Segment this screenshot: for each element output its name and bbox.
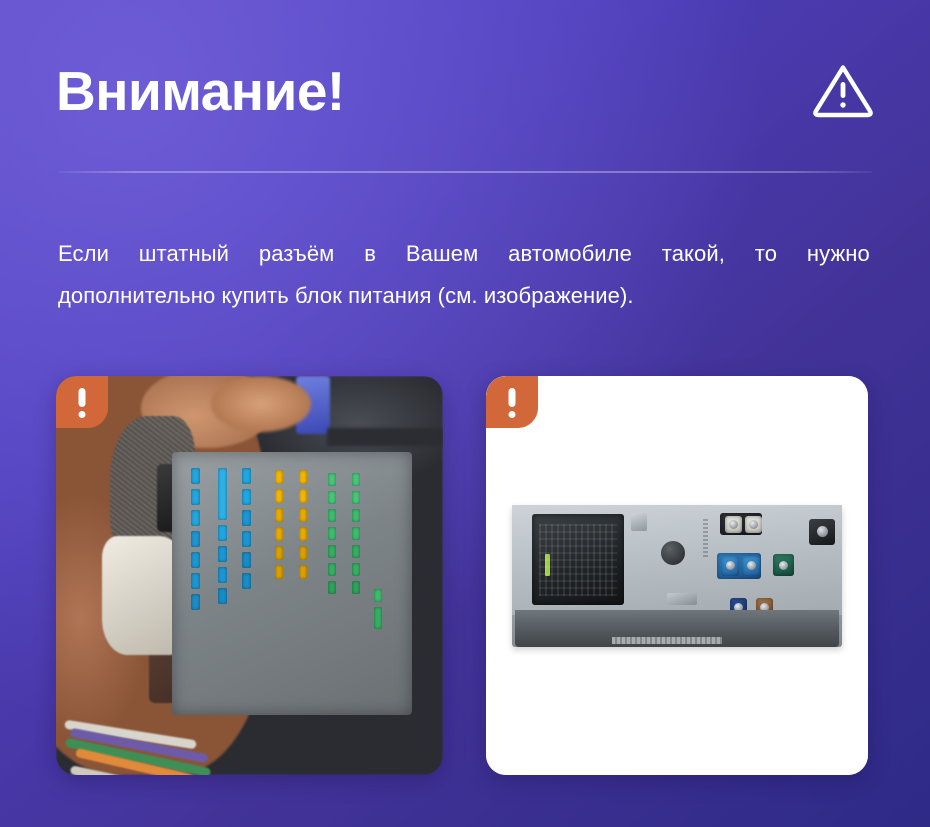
screw-terminal-block <box>809 519 835 545</box>
pin-column-green <box>328 473 336 594</box>
pin-column-yellow <box>275 470 283 579</box>
body-text: Если штатный разъём в Вашем автомобиле т… <box>58 233 870 317</box>
warning-slide: Внимание! Если штатный разъём в Вашем ав… <box>0 0 930 827</box>
fakra-connector-white <box>725 516 742 533</box>
word: разъём <box>259 233 335 275</box>
header-divider <box>58 171 872 173</box>
word: Вашем <box>406 233 478 275</box>
quadlock-connector <box>172 452 412 715</box>
word: то <box>755 233 777 275</box>
exclamation-dot <box>79 411 86 418</box>
fakra-connector-green <box>773 554 794 576</box>
power-supply-module <box>512 505 842 647</box>
fakra-connector-white <box>745 516 762 533</box>
module-label <box>612 637 722 644</box>
pin-column-blue <box>218 468 227 604</box>
pin-column-green <box>374 589 382 629</box>
module-front-lip <box>515 610 838 647</box>
round-knob <box>661 541 685 565</box>
card-power-supply-photo[interactable] <box>486 376 868 775</box>
background-dark-bar <box>327 428 443 446</box>
word: Если <box>58 233 109 275</box>
header: Внимание! <box>56 48 874 134</box>
finger <box>211 376 312 432</box>
word: автомобиле <box>508 233 632 275</box>
fakra-connector-blue <box>721 556 739 576</box>
power-supply-photo <box>486 376 868 775</box>
wire-bundle <box>64 679 319 775</box>
page-title: Внимание! <box>56 64 345 119</box>
exclamation-icon <box>486 376 538 428</box>
word: в <box>364 233 376 275</box>
black-harness-connector <box>532 514 624 605</box>
exclamation-icon <box>56 376 108 428</box>
fakra-connector-blue <box>742 556 760 576</box>
card-connector-photo[interactable] <box>56 376 443 775</box>
connector-photo <box>56 376 443 775</box>
image-cards <box>56 376 868 775</box>
pin-column-blue <box>191 468 200 610</box>
exclamation-dot <box>509 411 516 418</box>
exclamation-stem <box>509 388 516 407</box>
word: нужно <box>807 233 870 275</box>
word: штатный <box>139 233 229 275</box>
metal-clip <box>631 513 647 531</box>
module-side-marking <box>703 519 708 557</box>
metal-clip <box>667 593 697 605</box>
pin-column-yellow <box>299 470 307 579</box>
body-text-line-2: дополнительно купить блок питания (см. и… <box>58 275 870 317</box>
exclamation-stem <box>79 388 86 407</box>
warning-triangle-icon <box>812 62 874 120</box>
pin-column-blue <box>242 468 251 589</box>
green-locking-tab <box>545 554 550 576</box>
pin-column-green <box>352 473 360 594</box>
word: такой, <box>662 233 725 275</box>
body-text-line-1: Если штатный разъём в Вашем автомобиле т… <box>58 233 870 275</box>
